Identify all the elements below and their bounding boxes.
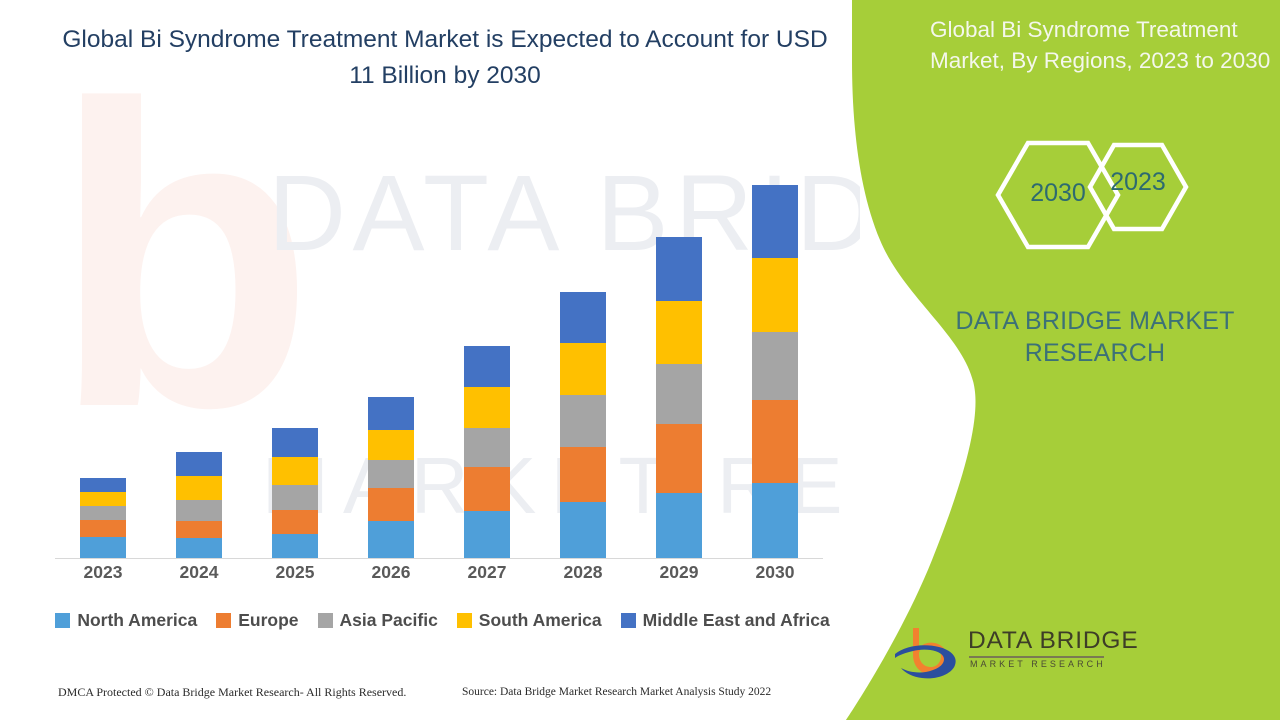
bar-segment [752,483,798,558]
bar-segment [560,343,606,395]
bar-segment [176,476,222,500]
bar-segment [560,502,606,558]
data-bridge-logo: DATA BRIDGE MARKET RESEARCH [893,622,1123,684]
footer-divider [55,678,825,679]
logo-divider [969,656,1104,658]
stacked-bar [656,237,702,558]
bar-segment [560,447,606,502]
stacked-bar [464,346,510,558]
bar-group-2030 [727,118,823,558]
stacked-bar [80,478,126,558]
stacked-bar [176,452,222,558]
bar-segment [80,520,126,537]
legend-label: North America [77,610,197,631]
legend-item[interactable]: Middle East and Africa [621,610,830,631]
bar-segment [368,397,414,430]
bar-segment [368,460,414,488]
bar-segment [368,430,414,460]
bar-segment [272,457,318,485]
legend-swatch-icon [621,613,636,628]
legend-item[interactable]: Europe [216,610,298,631]
bar-segment [80,492,126,506]
bar-segment [464,467,510,511]
legend-swatch-icon [457,613,472,628]
stacked-bar-chart: 20232024202520262027202820292030 North A… [55,100,830,700]
legend-label: South America [479,610,602,631]
logo-name: DATA BRIDGE [968,627,1139,655]
bar-group-2029 [631,118,727,558]
chart-x-axis-line [55,558,823,559]
bar-segment [272,534,318,558]
panel-title: Global Bi Syndrome Treatment Market, By … [930,14,1280,76]
bar-segment [656,237,702,301]
bar-segment [656,364,702,424]
bar-segment [80,478,126,492]
legend-item[interactable]: South America [457,610,602,631]
bar-segment [80,537,126,558]
bar-group-2028 [535,118,631,558]
bar-segment [752,332,798,400]
bar-group-2023 [55,118,151,558]
footer-copyright: DMCA Protected © Data Bridge Market Rese… [58,685,406,700]
chart-plot-area [55,100,830,559]
bar-segment [560,395,606,447]
bar-segment [272,510,318,534]
bar-segment [656,424,702,493]
bar-segment [464,346,510,387]
chart-x-axis-labels: 20232024202520262027202820292030 [55,562,823,590]
bar-segment [752,185,798,258]
bar-segment [176,452,222,476]
bar-group-2025 [247,118,343,558]
infographic-canvas: b DATA BRIDGE MARKET RESEARCH Global Bi … [0,0,1280,720]
bar-segment [464,511,510,558]
stacked-bar [368,397,414,558]
stacked-bar [752,185,798,558]
bar-group-2024 [151,118,247,558]
bar-segment [752,258,798,332]
bar-segment [464,428,510,467]
x-tick-2028: 2028 [535,562,631,590]
legend-label: Asia Pacific [340,610,438,631]
bar-segment [368,521,414,558]
x-tick-2030: 2030 [727,562,823,590]
legend-item[interactable]: Asia Pacific [318,610,438,631]
hexagon-2023-label: 2023 [1090,168,1186,197]
x-tick-2025: 2025 [247,562,343,590]
hexagon-group: 2030 2023 [900,135,1280,285]
legend-item[interactable]: North America [55,610,197,631]
bar-segment [656,301,702,364]
legend-label: Europe [238,610,298,631]
bar-segment [464,387,510,428]
x-tick-2026: 2026 [343,562,439,590]
bar-segment [176,521,222,538]
bar-segment [176,500,222,521]
bar-segment [176,538,222,558]
chart-bars [55,118,823,558]
bar-group-2026 [343,118,439,558]
logo-mark-icon [893,624,965,682]
legend-swatch-icon [318,613,333,628]
footer-source: Source: Data Bridge Market Research Mark… [462,686,771,698]
stacked-bar [560,292,606,558]
brand-wordmark: DATA BRIDGE MARKET RESEARCH [910,305,1280,369]
bar-segment [272,428,318,457]
bar-segment [368,488,414,521]
chart-legend: North AmericaEuropeAsia PacificSouth Ame… [55,610,830,631]
bar-segment [80,506,126,520]
bar-group-2027 [439,118,535,558]
bar-segment [560,292,606,344]
x-tick-2029: 2029 [631,562,727,590]
legend-label: Middle East and Africa [643,610,830,631]
bar-segment [752,400,798,483]
legend-swatch-icon [216,613,231,628]
x-tick-2027: 2027 [439,562,535,590]
stacked-bar [272,428,318,559]
logo-tagline: MARKET RESEARCH [970,659,1106,669]
legend-swatch-icon [55,613,70,628]
bar-segment [272,485,318,510]
x-tick-2023: 2023 [55,562,151,590]
x-tick-2024: 2024 [151,562,247,590]
page-title: Global Bi Syndrome Treatment Market is E… [60,22,830,94]
bar-segment [656,493,702,558]
